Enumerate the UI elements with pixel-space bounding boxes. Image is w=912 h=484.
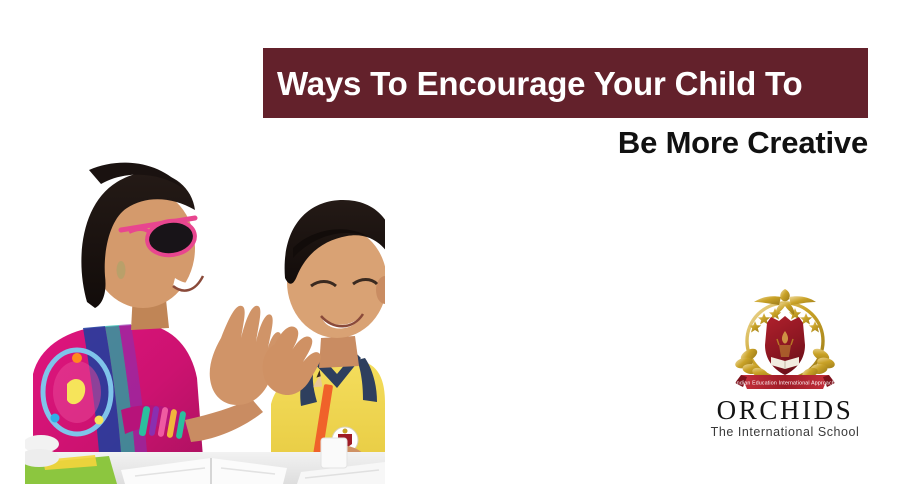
headline-line-2: Be More Creative bbox=[263, 126, 868, 160]
hero-photo bbox=[25, 152, 385, 484]
orchids-logo[interactable]: Indian Education International Approach … bbox=[705, 283, 865, 443]
promo-banner-canvas: Ways To Encourage Your Child To Be More … bbox=[0, 0, 912, 484]
logo-wordmark: ORCHIDS bbox=[705, 397, 865, 424]
crest-wreath-leaves-right bbox=[801, 346, 836, 380]
crest-wreath-leaves-left bbox=[734, 346, 769, 380]
logo-tagline: The International School bbox=[705, 426, 865, 439]
headline-line-1: Ways To Encourage Your Child To bbox=[263, 67, 803, 100]
kurta-embroidery-dot-2 bbox=[51, 414, 60, 423]
orchids-crest-icon: Indian Education International Approach bbox=[727, 283, 843, 399]
crest-illustration: Indian Education International Approach bbox=[727, 283, 843, 399]
headline-banner: Ways To Encourage Your Child To bbox=[263, 48, 868, 118]
hero-photo-illustration bbox=[25, 152, 385, 484]
teacher-earring bbox=[117, 261, 126, 279]
child-neck bbox=[319, 336, 359, 368]
kurta-embroidery-dot bbox=[72, 353, 82, 363]
eraser bbox=[321, 438, 347, 468]
crest-ribbon-text: Indian Education International Approach bbox=[735, 381, 835, 387]
kurta-embroidery-dot-3 bbox=[95, 416, 104, 425]
